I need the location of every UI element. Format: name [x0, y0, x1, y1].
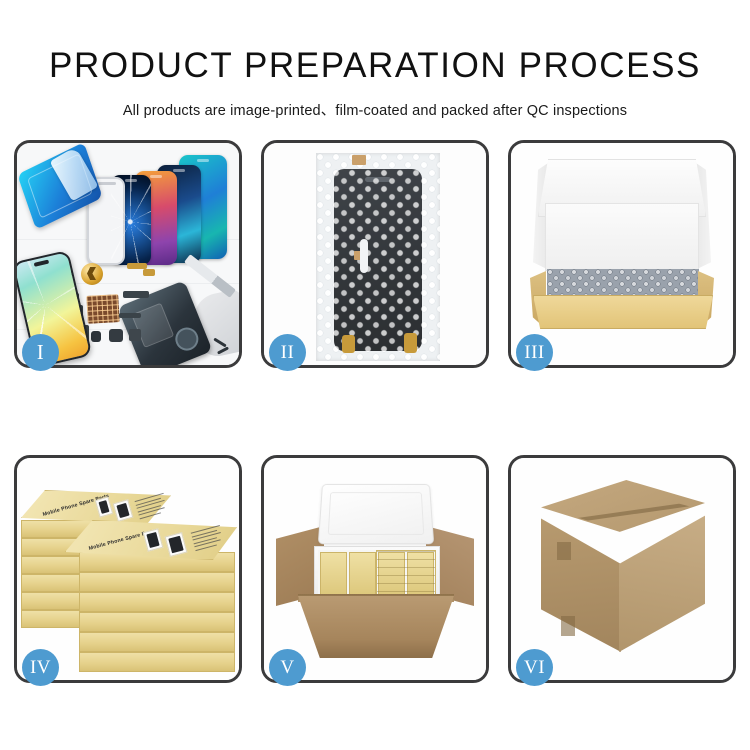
header: PRODUCT PREPARATION PROCESS All products… [0, 0, 750, 120]
page-subtitle: All products are image-printed、film-coat… [0, 83, 750, 120]
retail-box-stacks: Mobile Phone Spare Parts [19, 476, 239, 676]
process-row-1: I II [14, 140, 741, 368]
step-badge-6: VI [516, 649, 553, 686]
step-panel-2[interactable]: II [261, 140, 489, 368]
step-panel-5[interactable]: V [261, 455, 489, 683]
carton-body [298, 596, 454, 658]
foam-sheet [545, 203, 699, 271]
step-image-foam-lined-mailer [511, 143, 733, 365]
product-preparation-infographic: PRODUCT PREPARATION PROCESS All products… [0, 0, 750, 750]
step-badge-1: I [22, 334, 59, 371]
vibration-motor-part [81, 263, 103, 285]
process-grid: I II [14, 140, 741, 683]
bubble-wrap-bag [316, 153, 440, 361]
process-row-2: Mobile Phone Spare Parts [14, 455, 741, 683]
step-image-retail-box-stacks: Mobile Phone Spare Parts [17, 458, 239, 680]
carton-tape-lower [561, 616, 575, 636]
step-panel-4[interactable]: Mobile Phone Spare Parts [14, 455, 242, 683]
step-badge-5: V [269, 649, 306, 686]
carton-tape-upper [557, 542, 571, 560]
page-title: PRODUCT PREPARATION PROCESS [0, 0, 750, 83]
step-panel-6[interactable]: VI [508, 455, 736, 683]
step-image-sealed-carton [511, 458, 733, 680]
bubble-wrap-layer [547, 269, 699, 297]
step-panel-1[interactable]: I [14, 140, 242, 368]
carton-right-face [619, 510, 705, 652]
step-image-foam-box-in-carton [264, 458, 486, 680]
mailer-front-wall [533, 295, 713, 329]
step-badge-2: II [269, 334, 306, 371]
step-image-products-and-parts [17, 143, 239, 365]
step-panel-3[interactable]: III [508, 140, 736, 368]
sealed-carton [525, 480, 721, 662]
carton-left-face [541, 510, 621, 652]
step-badge-3: III [516, 334, 553, 371]
step-image-bubble-wrapped [264, 143, 486, 365]
chip-grid-part [86, 294, 119, 324]
step-badge-4: IV [22, 649, 59, 686]
wrapped-screen-assembly [334, 169, 422, 351]
yellow-boxes-stack [376, 550, 436, 598]
foam-box-lid [318, 484, 434, 544]
